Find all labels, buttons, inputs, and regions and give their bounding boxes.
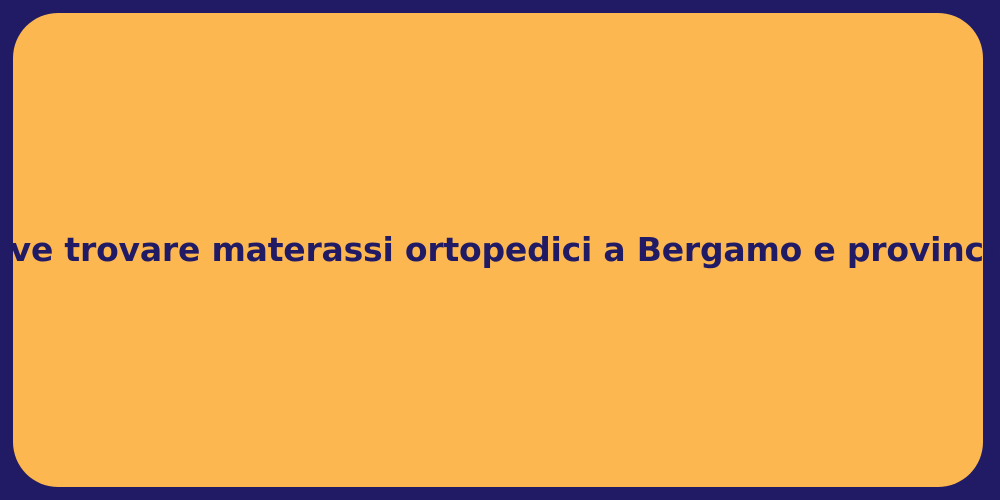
- page-title: Dove trovare materassi ortopedici a Berg…: [0, 230, 1000, 270]
- outer-frame: Dove trovare materassi ortopedici a Berg…: [0, 0, 1000, 500]
- content-card: Dove trovare materassi ortopedici a Berg…: [13, 13, 983, 487]
